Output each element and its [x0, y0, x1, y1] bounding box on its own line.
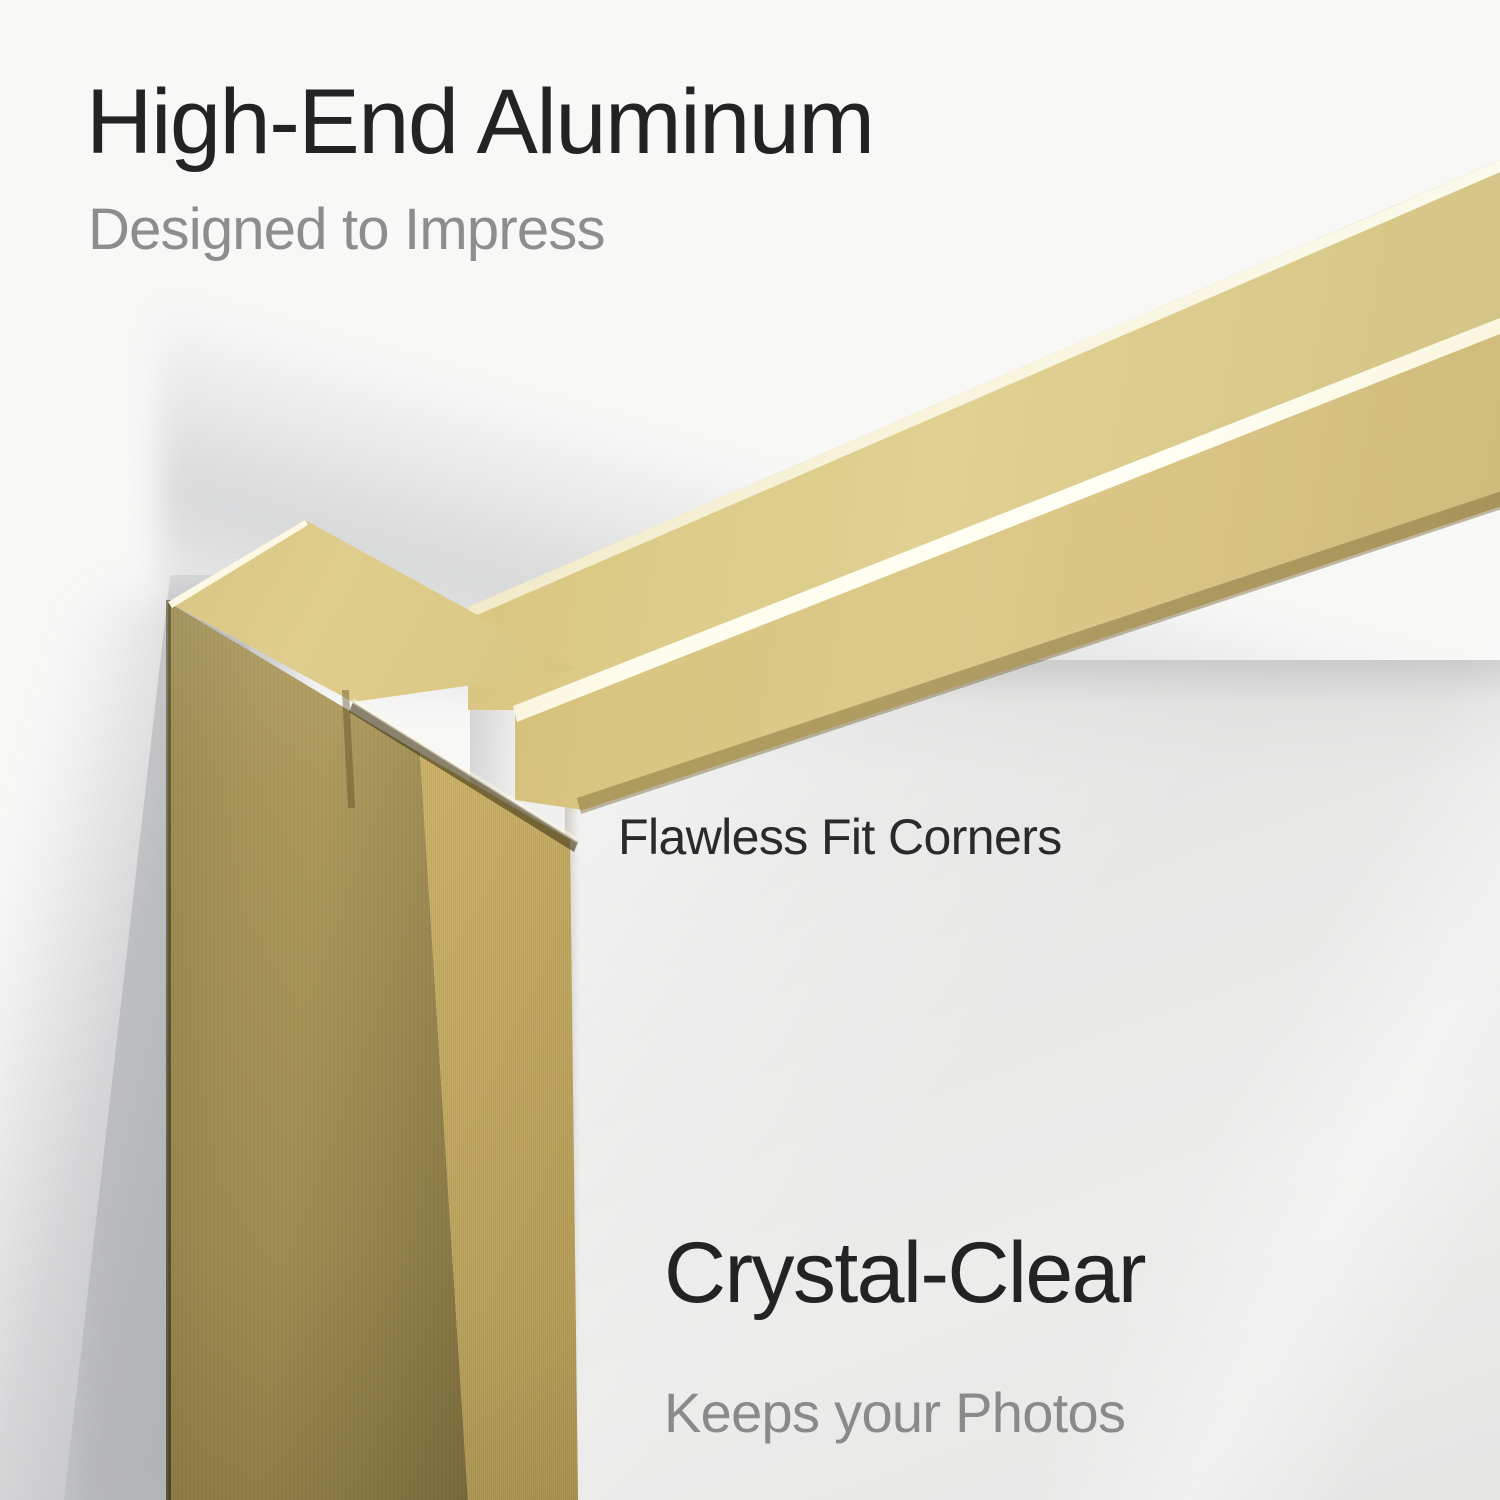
page-subtitle: Designed to Impress [88, 196, 605, 263]
page-title: High-End Aluminum [86, 70, 874, 175]
product-feature-image: High-End Aluminum Designed to Impress Fl… [0, 0, 1500, 1500]
feature-subtitle: Keeps your Photos Looking Sharp [664, 1243, 1125, 1500]
left-stile-outer-edge [166, 600, 171, 1500]
callout-flawless-fit-corners: Flawless Fit Corners [618, 808, 1062, 866]
feature-subtitle-line-1: Keeps your Photos [664, 1379, 1125, 1447]
